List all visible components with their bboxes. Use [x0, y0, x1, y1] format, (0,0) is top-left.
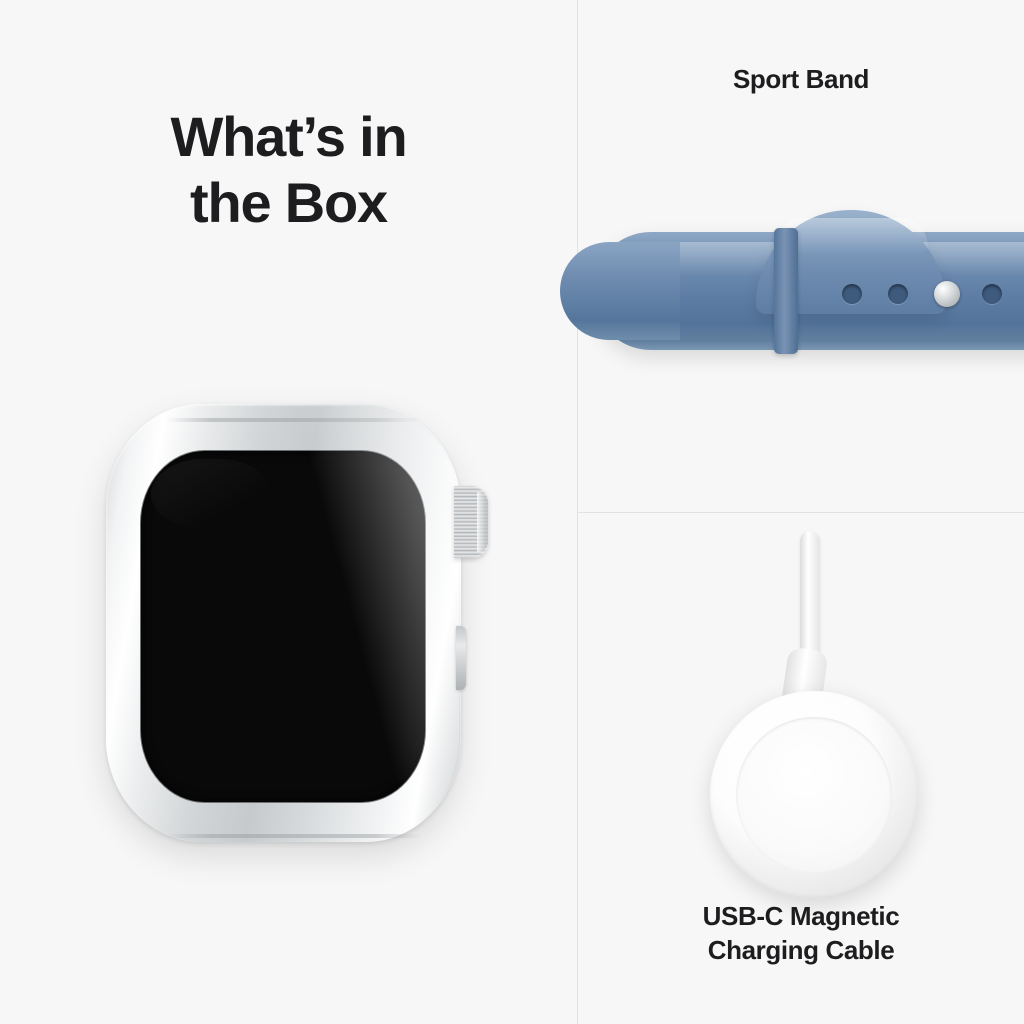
band-hole	[842, 284, 862, 304]
sport-band-panel: Sport Band	[578, 0, 1024, 512]
band-holes	[842, 284, 1024, 306]
sport-band-image	[560, 210, 1024, 370]
watch-lug-top	[166, 418, 421, 422]
band-tip	[560, 242, 680, 340]
charging-cable-title: USB-C Magnetic Charging Cable	[578, 900, 1024, 968]
charging-cable-title-line-1: USB-C Magnetic	[703, 901, 900, 931]
band-hole	[888, 284, 908, 304]
apple-watch-image	[96, 398, 496, 854]
whats-in-the-box-figure: What’s in the Box Sport Band	[0, 0, 1024, 1024]
left-panel: What’s in the Box	[0, 0, 577, 1024]
charging-cable-title-line-2: Charging Cable	[578, 934, 1024, 968]
charging-cable-image	[578, 531, 1024, 931]
band-pin	[934, 281, 960, 307]
band-hole	[982, 284, 1002, 304]
digital-crown	[454, 486, 488, 558]
band-keeper	[774, 228, 798, 354]
charging-cable-panel: USB-C Magnetic Charging Cable	[578, 513, 1024, 1024]
watch-display	[141, 451, 425, 802]
watch-lug-bottom	[166, 834, 421, 838]
page-title-line-1: What’s in	[170, 105, 406, 168]
watch-side-button	[456, 626, 466, 690]
page-title-line-2: the Box	[0, 170, 577, 236]
watch-case	[106, 404, 461, 842]
sport-band-title: Sport Band	[578, 64, 1024, 95]
magnetic-charging-puck	[710, 691, 918, 899]
page-title: What’s in the Box	[0, 104, 577, 236]
